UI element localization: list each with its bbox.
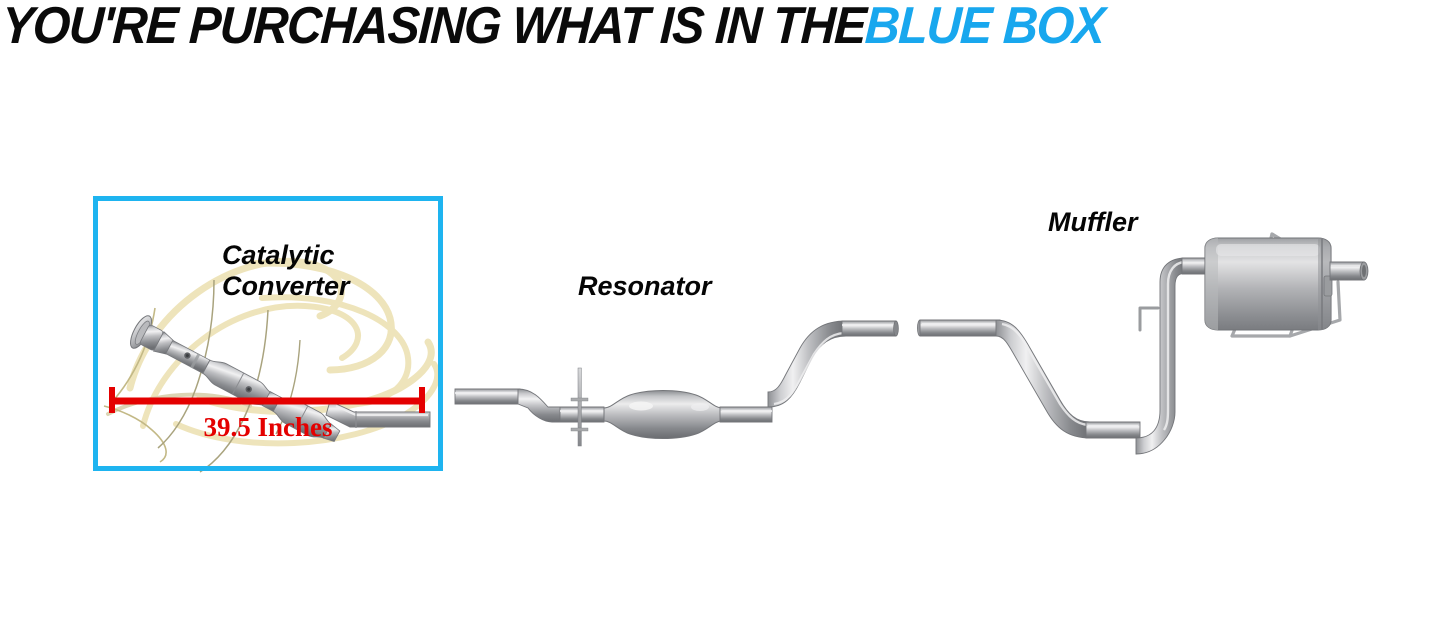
- label-resonator: Resonator: [578, 271, 712, 302]
- banner-headline-highlight: BLUE BOX: [864, 0, 1106, 55]
- promo-banner: YOU'RE PURCHASING WHAT IS IN THE BLUE BO…: [0, 0, 1445, 58]
- banner-headline: YOU'RE PURCHASING WHAT IS IN THE BLUE BO…: [2, 0, 1104, 55]
- product-diagram-page: YOU'RE PURCHASING WHAT IS IN THE BLUE BO…: [0, 0, 1445, 619]
- muffler-part: [917, 234, 1368, 454]
- label-muffler: Muffler: [1048, 207, 1138, 238]
- label-catalytic-line1: Catalytic: [222, 240, 350, 271]
- muffler-tailpipe: [1330, 262, 1368, 280]
- label-catalytic-line2: Converter: [222, 271, 350, 302]
- dimension-label: 39.5 Inches: [108, 412, 428, 443]
- banner-headline-plain: YOU'RE PURCHASING WHAT IS IN THE: [1, 0, 867, 55]
- label-catalytic-converter: Catalytic Converter: [222, 240, 350, 302]
- resonator-canister: [604, 391, 722, 439]
- resonator-part: [455, 321, 898, 446]
- muffler-hanger-hook: [1140, 308, 1158, 330]
